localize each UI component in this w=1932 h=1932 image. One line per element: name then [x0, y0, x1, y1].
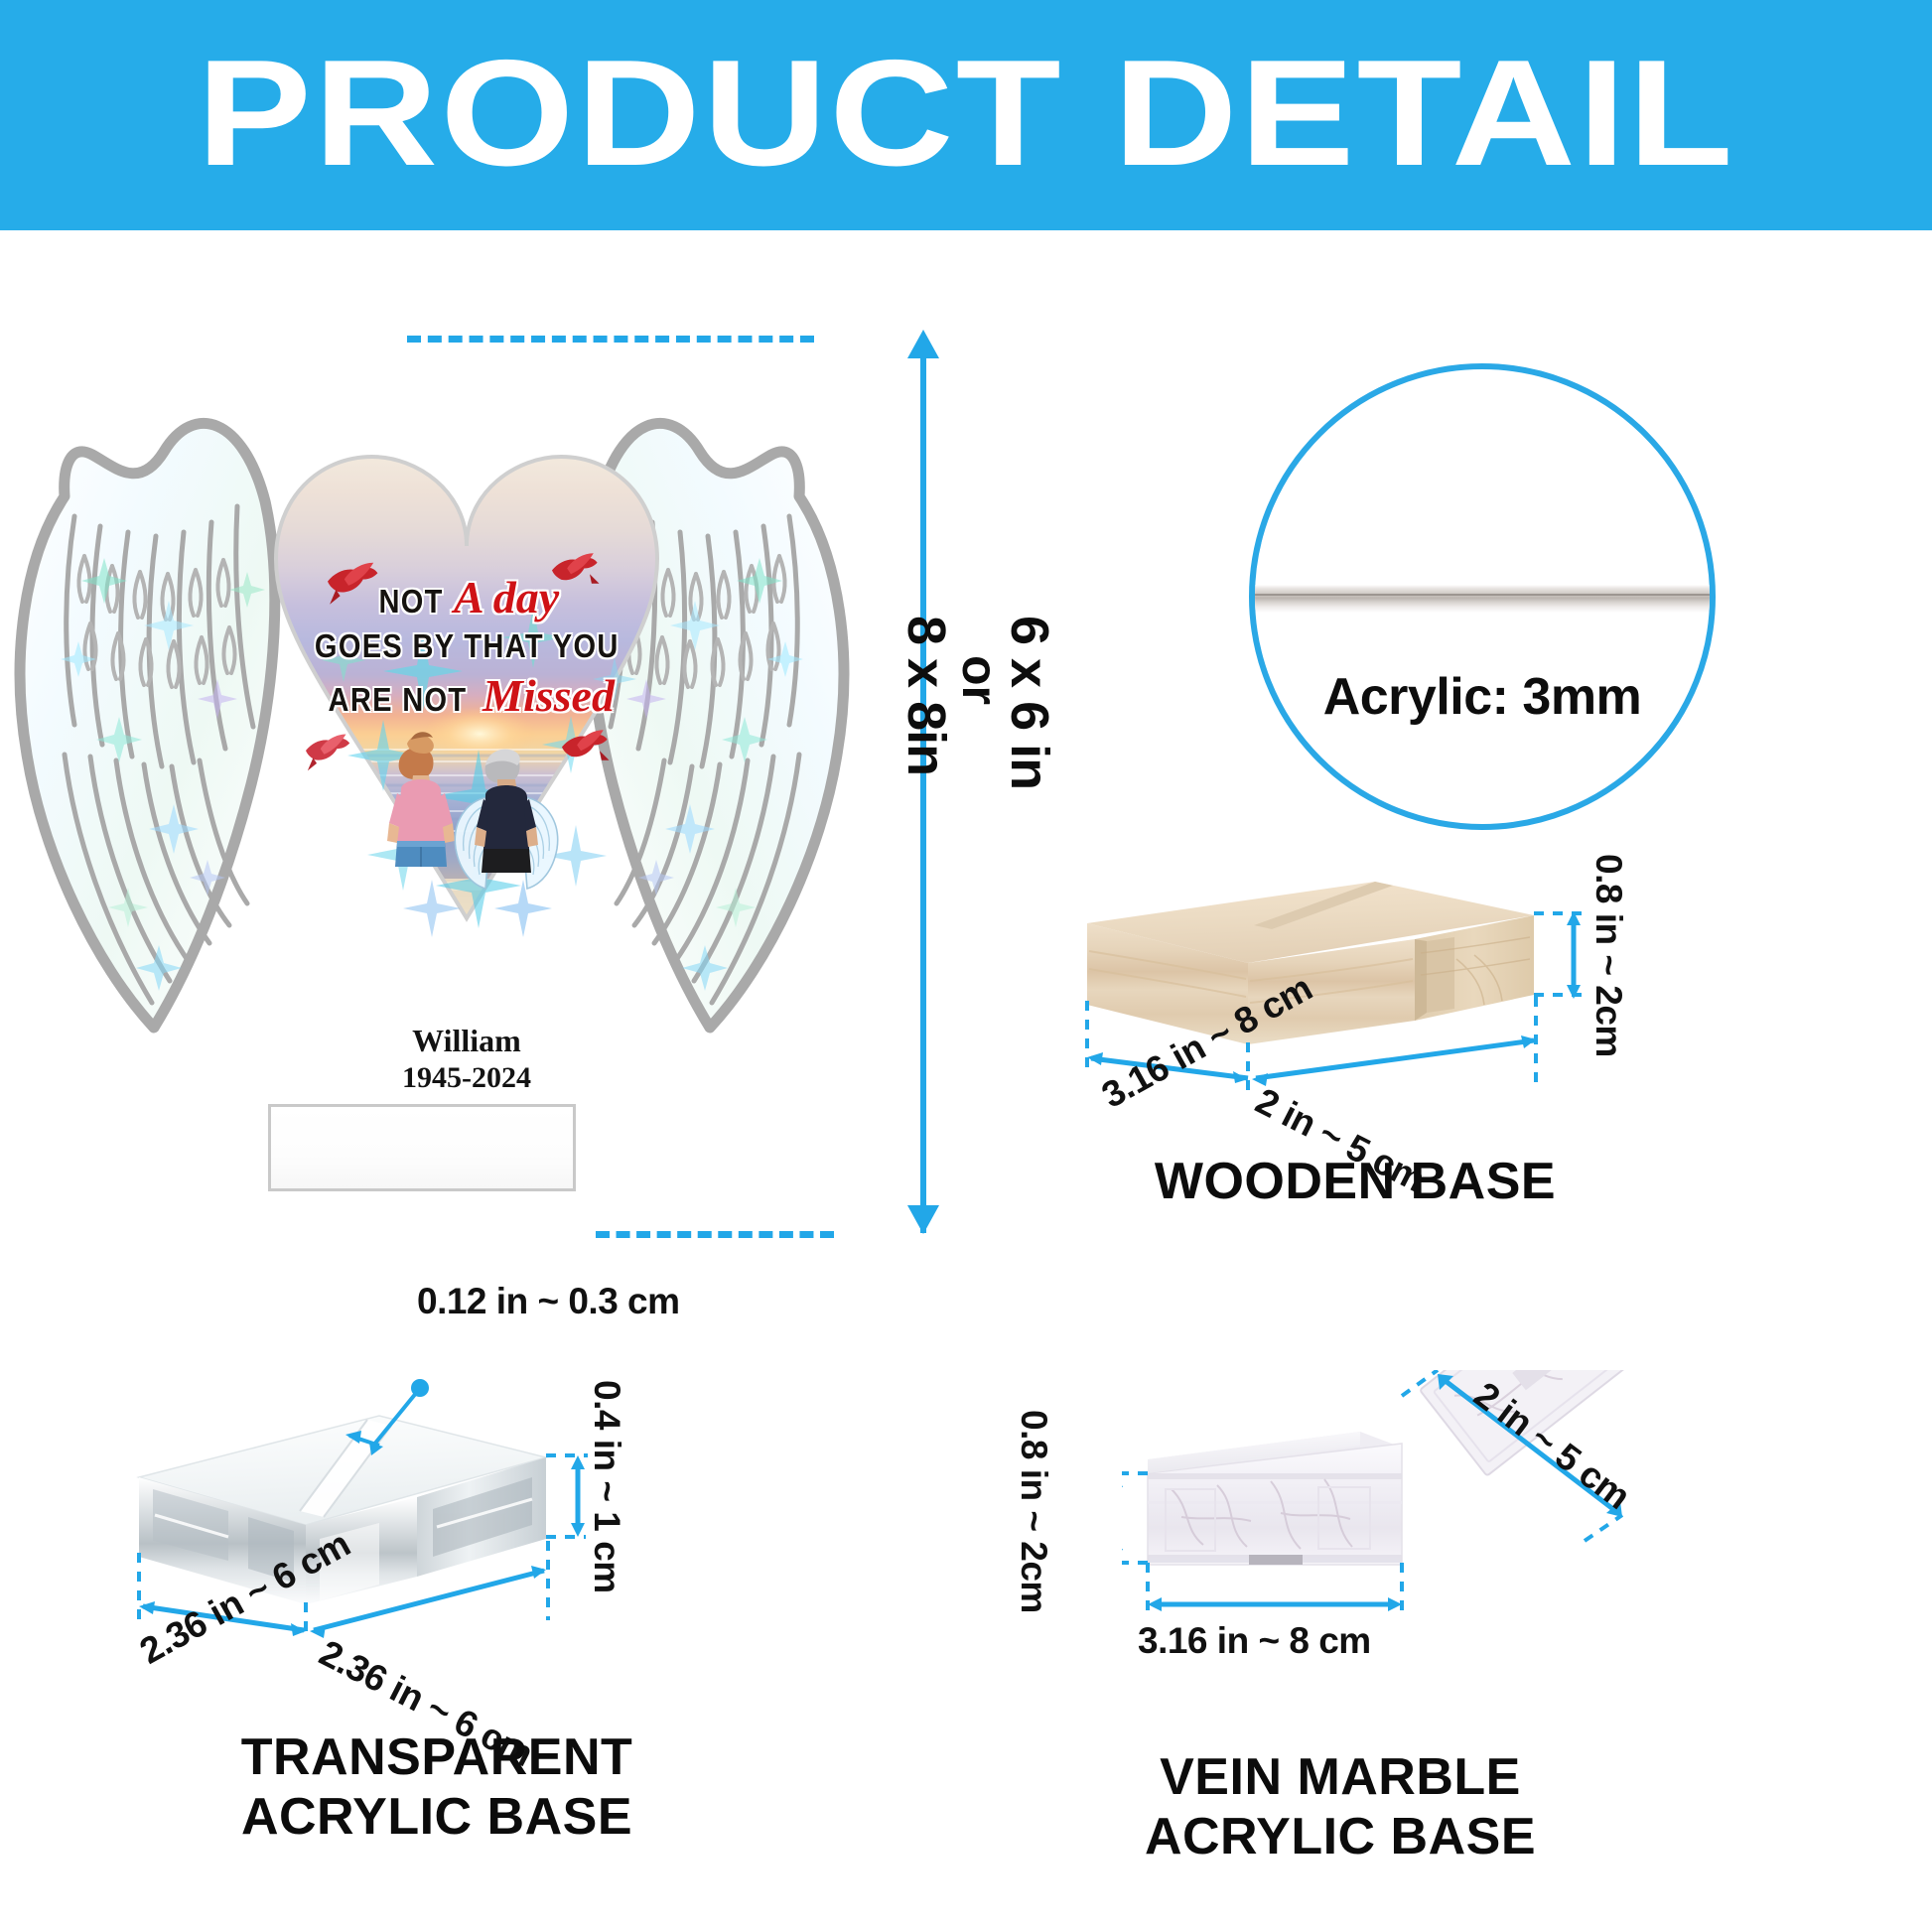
quote-line2: GOES BY THAT YOU — [315, 627, 620, 665]
memorial-dates: 1945-2024 — [268, 1059, 665, 1096]
arrow-head-up-icon — [906, 330, 940, 359]
heart-shaped-acrylic-panel: NOTA day GOES BY THAT YOU ARE NOTMissed — [268, 452, 665, 948]
memorial-name: William — [412, 1023, 521, 1058]
marble-base-height-dim: 0.8 in ~ 2cm — [1013, 1410, 1054, 1613]
size-option-2: 8 x 8in — [896, 616, 957, 775]
quote-line1-red: A day — [454, 571, 559, 623]
quote-line3-red: Missed — [483, 669, 615, 722]
transparent-base-title: TRANSPARENT ACRYLIC BASE — [99, 1727, 774, 1847]
marble-base-width-dim: 3.16 in ~ 8 cm — [1138, 1620, 1371, 1662]
marble-acrylic-base-figure: 0.8 in ~ 2cm 3.16 in ~ 8 cm 2 in ~ 5 cm … — [1122, 1370, 1678, 1658]
page-title: PRODUCT DETAIL — [0, 38, 1932, 189]
acrylic-edge-crosssection — [1249, 585, 1716, 613]
personalized-name-block: William 1945-2024 — [268, 1023, 665, 1096]
quote-line1-black: NOT — [378, 583, 443, 621]
acrylic-stand-base — [268, 1104, 576, 1191]
size-connector: or — [951, 655, 1009, 705]
acrylic-thickness-label: Acrylic: 3mm — [1255, 667, 1710, 727]
arrow-head-down-icon — [906, 1205, 940, 1235]
dimension-line-bottom — [596, 1231, 834, 1238]
header-banner: PRODUCT DETAIL — [0, 0, 1932, 230]
wooden-base-figure: 3.16 in ~ 8 cm 2 in ~ 5 cm 0.8 in ~ 2cm … — [1077, 864, 1633, 1112]
transparent-base-height-dim: 0.4 in ~ 1 cm — [586, 1380, 627, 1593]
wooden-base-height-dim: 0.8 in ~ 2cm — [1587, 854, 1629, 1057]
quote-line3-black: ARE NOT — [329, 681, 468, 719]
transparent-base-title-line2: ACRYLIC BASE — [241, 1788, 632, 1846]
acrylic-thickness-callout: Acrylic: 3mm — [1249, 363, 1716, 830]
cardinal-bird-icon — [306, 734, 349, 770]
left-angel-wing-icon — [5, 407, 303, 1042]
wooden-base-title: WOODEN BASE — [988, 1152, 1723, 1211]
dimension-arrow-vertical — [920, 336, 926, 1233]
heart-acrylic-artwork: NOTA day GOES BY THAT YOU ARE NOTMissed … — [55, 387, 809, 1172]
marble-base-title-line1: VEIN MARBLE — [1160, 1748, 1521, 1806]
product-detail-page: PRODUCT DETAIL 6 x 6 in or 8 x 8in — [0, 0, 1932, 1932]
transparent-acrylic-base-figure: 0.12 in ~ 0.3 cm 2.36 in ~ 6 cm 2.36 in … — [119, 1350, 715, 1638]
transparent-base-title-line1: TRANSPARENT — [241, 1728, 633, 1786]
memorial-quote: NOTA day GOES BY THAT YOU ARE NOTMissed — [268, 571, 665, 722]
marble-base-title-line2: ACRYLIC BASE — [1145, 1808, 1536, 1865]
dimension-line-top — [407, 336, 814, 343]
main-product-figure: 6 x 6 in or 8 x 8in — [55, 328, 928, 1251]
transparent-base-slot-dim: 0.12 in ~ 0.3 cm — [417, 1281, 680, 1322]
marble-base-title: VEIN MARBLE ACRYLIC BASE — [1003, 1747, 1678, 1866]
